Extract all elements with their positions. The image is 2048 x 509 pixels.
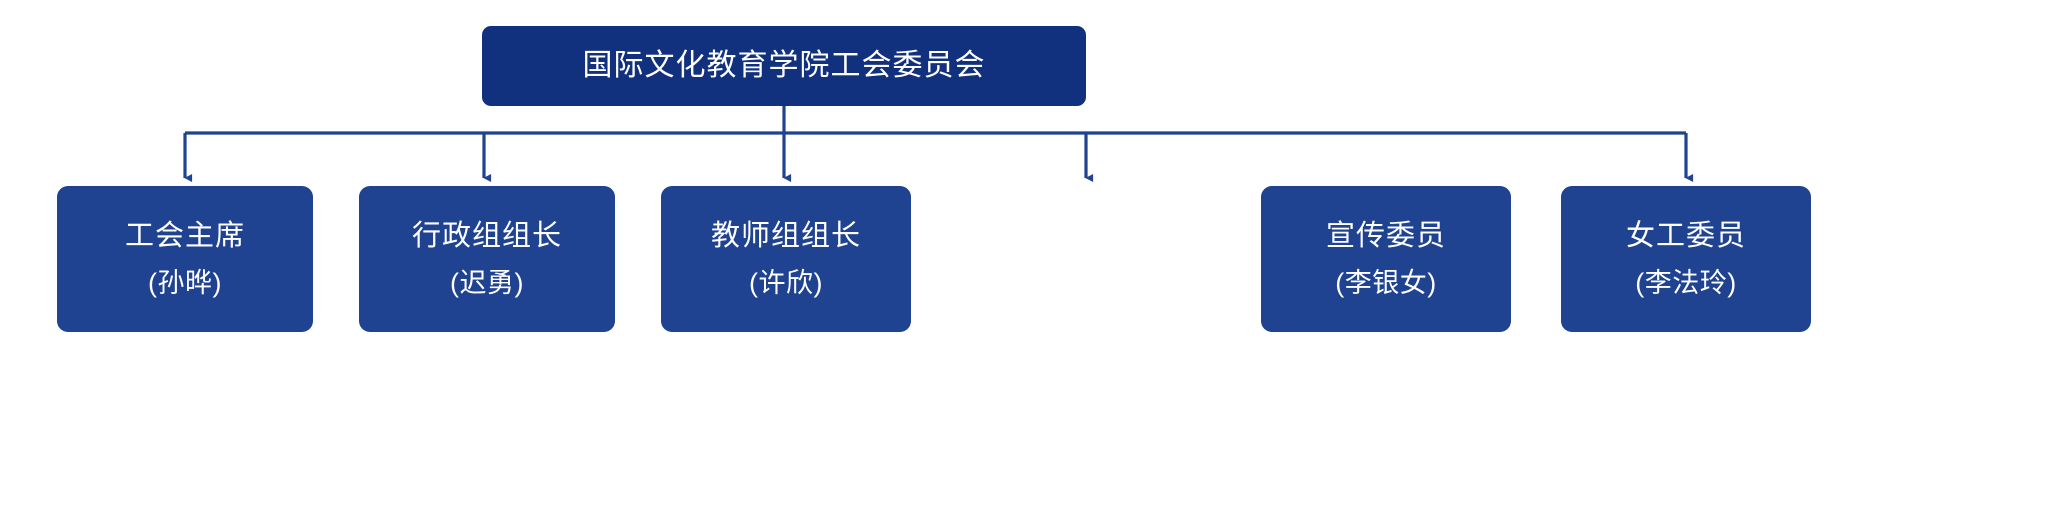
org-node-label: 宣传委员	[1326, 218, 1446, 254]
org-node-teacher-group-leader[interactable]: 教师组组长 (许欣)	[661, 186, 911, 332]
org-chart: 国际文化教育学院工会委员会 工会主席 (孙晔) 行政组组长	[0, 0, 2048, 509]
org-node-label: 行政组组长	[412, 218, 562, 254]
org-node-label: 工会主席	[125, 218, 245, 254]
org-node-label: 女工委员	[1626, 218, 1746, 254]
org-node-root[interactable]: 国际文化教育学院工会委员会	[482, 26, 1086, 106]
org-node-person: (李法玲)	[1635, 267, 1736, 301]
org-node-person: (孙晔)	[148, 267, 222, 301]
org-node-person: (迟勇)	[450, 267, 524, 301]
org-children-row: 工会主席 (孙晔) 行政组组长 (迟勇) 教师组组长 (许欣) 宣传委员 (李银…	[0, 186, 2048, 332]
org-node-person: (许欣)	[749, 267, 823, 301]
org-node-admin-group-leader[interactable]: 行政组组长 (迟勇)	[359, 186, 615, 332]
org-node-union-chair[interactable]: 工会主席 (孙晔)	[57, 186, 313, 332]
org-node-publicity-member[interactable]: 宣传委员 (李银女)	[1261, 186, 1511, 332]
org-node-label: 教师组组长	[711, 218, 861, 254]
org-node-root-label: 国际文化教育学院工会委员会	[583, 48, 986, 84]
org-node-women-worker-member[interactable]: 女工委员 (李法玲)	[1561, 186, 1811, 332]
org-node-person: (李银女)	[1335, 267, 1436, 301]
